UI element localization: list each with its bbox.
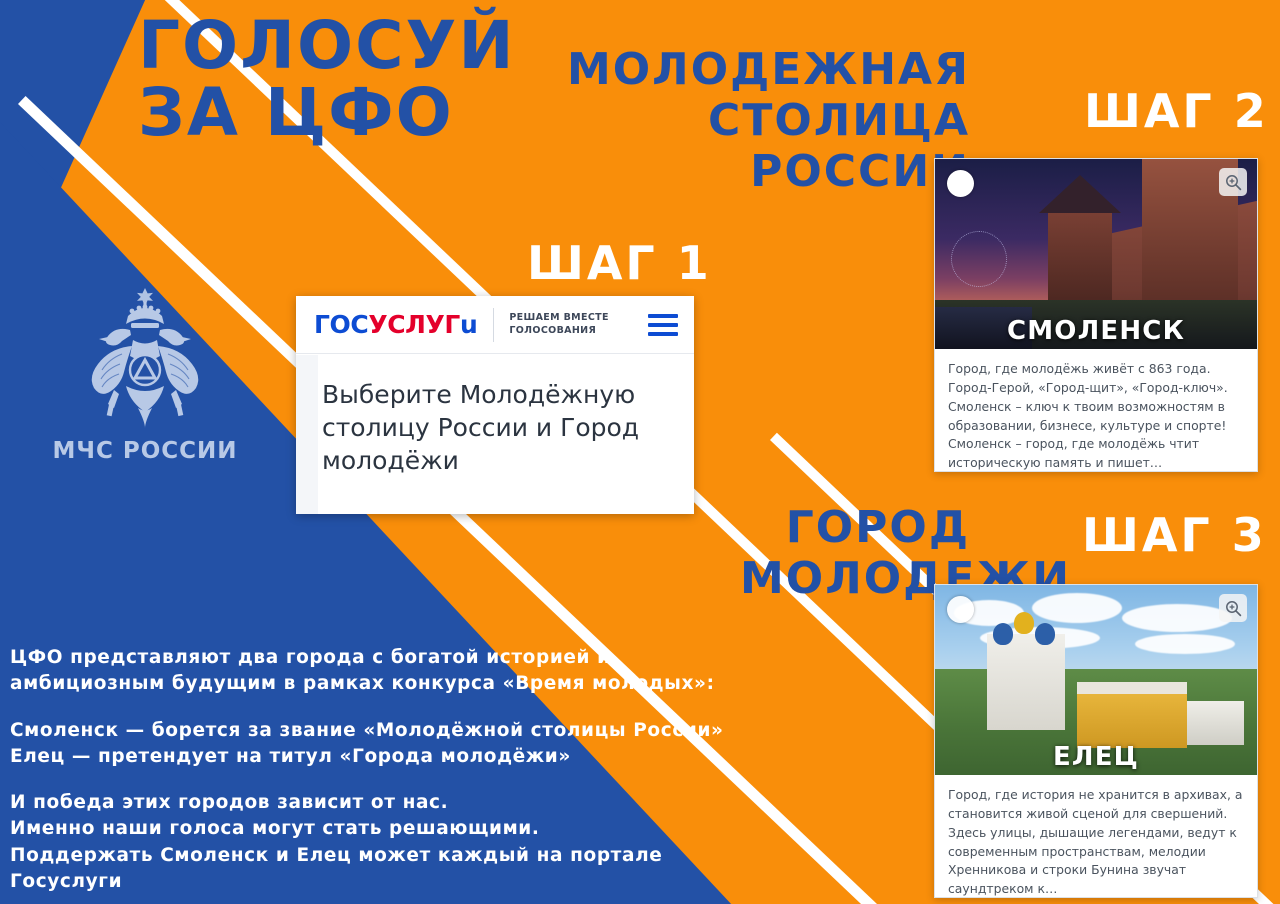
hamburger-bar-1 <box>648 314 678 318</box>
body-para3-line1: И победа этих городов зависит от нас. <box>10 790 770 816</box>
poster-body-copy: ЦФО представляют два города с богатой ис… <box>10 645 770 895</box>
page-title-vote-for-cfo: ГОЛОСУЙ ЗА ЦФО <box>138 12 516 147</box>
gosuslugi-screenshot-card[interactable]: ГОСУСЛУГu РЕШАЕМ ВМЕСТЕ ГОЛОСОВАНИЯ Выбе… <box>296 296 694 514</box>
gosuslugi-header: ГОСУСЛУГu РЕШАЕМ ВМЕСТЕ ГОЛОСОВАНИЯ <box>296 296 694 354</box>
mchs-emblem-caption: МЧС РОССИИ <box>52 438 238 464</box>
page-left-gutter <box>296 355 318 514</box>
gosuslugi-logo-part-2: УСЛУГ <box>368 310 460 339</box>
church-dome-blue-2 <box>1035 623 1055 645</box>
tagline-line-1: РЕШАЕМ ВМЕСТЕ <box>509 312 608 325</box>
body-para3-line2: Именно наши голоса могут стать решающими… <box>10 816 770 842</box>
city-description-yelets: Город, где история не хранится в архивах… <box>935 775 1257 898</box>
cloud-shape-2 <box>1032 593 1122 623</box>
tagline-line-2: ГОЛОСОВАНИЯ <box>509 325 608 338</box>
header-divider <box>493 308 494 342</box>
hamburger-menu-icon[interactable] <box>648 314 678 336</box>
cloud-shape-3 <box>1122 604 1232 632</box>
gosuslugi-tagline: РЕШАЕМ ВМЕСТЕ ГОЛОСОВАНИЯ <box>509 312 608 338</box>
gosuslugi-body: Выберите Молодёжную столицу России и Гор… <box>296 354 694 477</box>
city-photo-smolensk: СМОЛЕНСК <box>935 159 1257 349</box>
cloud-shape-5 <box>1135 634 1235 654</box>
magnifier-glyph <box>1225 600 1242 617</box>
body-para2-line2: Елец — претендует на титул «Города молод… <box>10 744 770 770</box>
church-dome-gold <box>1014 612 1034 634</box>
ferris-wheel-shape <box>951 231 1007 287</box>
city-name-label: ЕЛЕЦ <box>935 742 1257 772</box>
mchs-emblem-block: МЧС РОССИИ <box>52 282 238 464</box>
body-para3-line3: Поддержать Смоленск и Елец может каждый … <box>10 843 770 896</box>
paragraph-gap-1 <box>10 698 770 718</box>
magnifier-glyph <box>1225 174 1242 191</box>
city-card-yelets[interactable]: ЕЛЕЦ Город, где история не хранится в ар… <box>934 584 1258 898</box>
paragraph-gap-2 <box>10 770 770 790</box>
hamburger-bar-3 <box>648 332 678 336</box>
step-label-1: ШАГ 1 <box>527 236 712 290</box>
radio-button-unchecked-icon[interactable] <box>947 596 974 623</box>
city-photo-yelets: ЕЛЕЦ <box>935 585 1257 775</box>
gosuslugi-page-heading: Выберите Молодёжную столицу России и Гор… <box>322 378 668 477</box>
zoom-in-magnifier-icon[interactable] <box>1219 168 1247 196</box>
yellow-mansion-shape <box>1077 692 1187 748</box>
zoom-in-magnifier-icon[interactable] <box>1219 594 1247 622</box>
church-dome-blue-1 <box>993 623 1013 645</box>
city-card-smolensk[interactable]: СМОЛЕНСК Город, где молодёжь живёт с 863… <box>934 158 1258 472</box>
kremlin-tower-shape <box>1048 211 1112 307</box>
body-para2-line1: Смоленск — борется за звание «Молодёжной… <box>10 718 770 744</box>
city-name-label: СМОЛЕНСК <box>935 316 1257 346</box>
radio-button-unchecked-icon[interactable] <box>947 170 974 197</box>
double-headed-eagle-emblem-icon <box>70 282 220 432</box>
gosuslugi-logo-part-1: ГОС <box>314 310 368 339</box>
body-para1-line2: амбициозным будущим в рамках конкурса «В… <box>10 671 770 697</box>
gosuslugi-logo[interactable]: ГОСУСЛУГu <box>314 310 477 339</box>
step-label-3: ШАГ 3 <box>1082 508 1267 562</box>
hamburger-bar-2 <box>648 323 678 327</box>
church-building-shape <box>987 634 1065 730</box>
poster-canvas: ГОЛОСУЙ ЗА ЦФО МОЛОДЕЖНАЯ СТОЛИЦА РОССИИ… <box>0 0 1280 904</box>
step-label-2: ШАГ 2 <box>1084 84 1269 138</box>
headline-youth-capital: МОЛОДЕЖНАЯ СТОЛИЦА РОССИИ <box>560 44 970 197</box>
gosuslugi-logo-part-3: u <box>460 310 477 339</box>
city-description-smolensk: Город, где молодёжь живёт с 863 года. Го… <box>935 349 1257 472</box>
body-para1-line1: ЦФО представляют два города с богатой ис… <box>10 645 770 671</box>
